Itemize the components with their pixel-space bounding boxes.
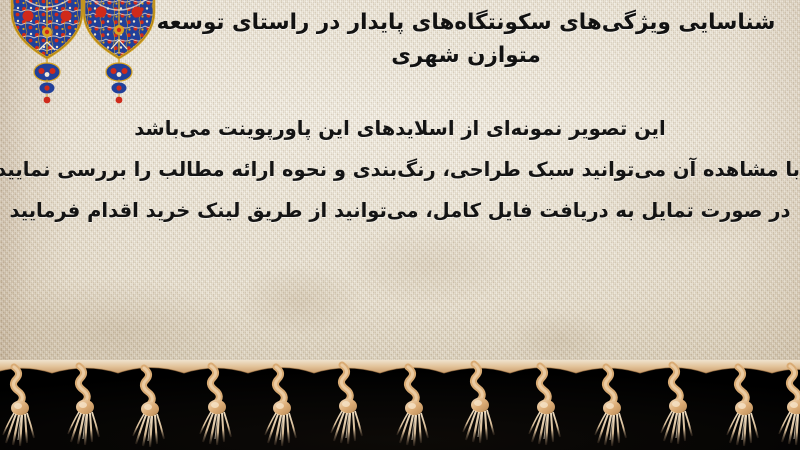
persian-illumination-pendant-icon xyxy=(8,0,86,104)
tassel xyxy=(200,366,231,445)
tassel xyxy=(463,364,494,443)
tassel xyxy=(529,366,560,445)
carpet-fringe-region xyxy=(0,360,800,450)
tassel xyxy=(68,366,99,445)
body-line-1: این تصویر نمونه‌ای از اسلایدهای این پاور… xyxy=(0,108,800,149)
tassel xyxy=(265,367,296,446)
body-line-2: با مشاهده آن می‌توانید سبک طراحی، رنگ‌بن… xyxy=(0,149,800,190)
slide-body-text: این تصویر نمونه‌ای از اسلایدهای این پاور… xyxy=(0,108,800,231)
slide-title: شناسایی ویژگی‌های سکونتگاه‌های پایدار در… xyxy=(146,6,786,72)
tassel xyxy=(779,366,800,445)
tassel xyxy=(727,367,758,446)
tassel xyxy=(331,365,362,444)
slide-title-line-2: متوازن شهری xyxy=(146,39,786,72)
tassel xyxy=(133,368,164,447)
body-line-3: در صورت تمایل به دریافت فایل کامل، می‌تو… xyxy=(0,190,800,231)
slide-canvas: شناسایی ویژگی‌های سکونتگاه‌های پایدار در… xyxy=(0,0,800,450)
ornament-group xyxy=(0,0,170,114)
tassel xyxy=(661,365,692,444)
tassel xyxy=(595,367,626,446)
tassel xyxy=(3,367,34,446)
tassel xyxy=(397,367,428,446)
slide-title-line-1: شناسایی ویژگی‌های سکونتگاه‌های پایدار در… xyxy=(157,10,776,35)
tassel-row xyxy=(0,360,800,450)
